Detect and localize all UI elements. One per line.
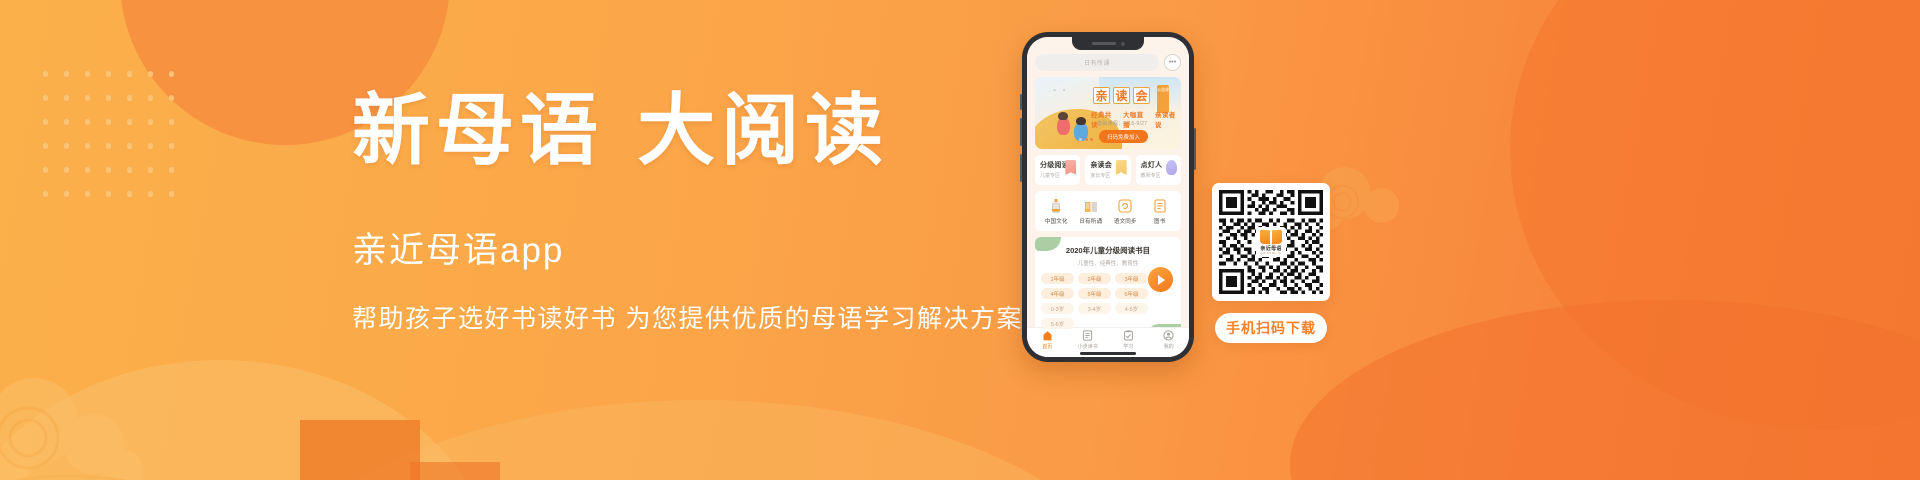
hero-title: 亲 读 会 — [1093, 87, 1150, 104]
quick-link-label: 中国文化 — [1039, 217, 1074, 225]
background-square-left — [300, 420, 420, 480]
quick-link-chinese-culture[interactable]: 中国文化 — [1039, 198, 1074, 225]
hero-title-char: 会 — [1133, 87, 1150, 104]
hero-date-text: 基础课程：9/16-9/27 — [1097, 120, 1147, 127]
person-icon — [1166, 160, 1177, 175]
cloud-motif-icon — [0, 376, 152, 480]
home-indicator — [1080, 352, 1136, 355]
tab-reading[interactable]: 小步读书 — [1068, 330, 1109, 350]
booklist-title: 2020年儿童分级阅读书目 — [1041, 245, 1175, 256]
age-pill[interactable]: 3-4岁 — [1078, 303, 1111, 314]
front-camera-icon — [1121, 42, 1125, 46]
tab-label: 我的 — [1149, 343, 1190, 350]
background-wave-middle — [250, 400, 1150, 480]
phone-mockup: 日有所诵 ••• ∙⌃ ⌃ 亲 读 会 — [1022, 32, 1194, 362]
page-title: 新母语 大阅读 — [352, 92, 1023, 170]
quick-link-label: 语文同步 — [1108, 217, 1143, 225]
quick-link-label: 图书 — [1143, 217, 1178, 225]
grade-pill[interactable]: 6年级 — [1115, 288, 1148, 299]
promo-banner: 新母语 大阅读 亲近母语app 帮助孩子选好书读好书 为您提供优质的母语学习解决… — [0, 0, 1920, 480]
download-button[interactable]: 手机扫码下载 — [1215, 313, 1327, 343]
book-logo-icon — [1260, 230, 1282, 244]
book-list-icon — [1068, 330, 1109, 341]
background-circle-right — [1510, 0, 1920, 430]
hero-subtitle-item: 亲读者说 — [1155, 109, 1181, 129]
earpiece-speaker-icon — [1092, 42, 1116, 44]
app-name: 亲近母语app — [352, 222, 1023, 273]
user-circle-icon — [1149, 330, 1190, 341]
tagline: 帮助孩子选好书读好书 为您提供优质的母语学习解决方案 — [352, 299, 1023, 335]
quick-link-label: 日有所诵 — [1074, 217, 1109, 225]
quick-link-daily-recite[interactable]: 日有所诵 — [1074, 198, 1109, 225]
tab-study[interactable]: 学习 — [1108, 330, 1149, 350]
more-options-icon[interactable]: ••• — [1164, 54, 1181, 71]
search-row: 日有所诵 ••• — [1035, 54, 1181, 71]
background-square-left-small — [410, 462, 500, 480]
qr-code-icon[interactable]: 亲近母语 QIN JIN MU YU — [1212, 183, 1330, 301]
download-block: 亲近母语 QIN JIN MU YU 手机扫码下载 — [1212, 183, 1330, 343]
background-circle-bottom-right — [1290, 300, 1920, 480]
tab-label: 首页 — [1027, 343, 1068, 350]
hero-banner[interactable]: ∙⌃ ⌃ 亲 读 会 公益课 经典共读 大咖直播 亲读者说 基础课程：9/16-… — [1035, 77, 1181, 149]
entry-card-subtitle: 家长专区 — [1090, 172, 1125, 179]
search-input[interactable]: 日有所诵 — [1035, 54, 1159, 71]
brand-logo: 亲近母语 QIN JIN MU YU — [1256, 227, 1286, 257]
entry-card-parent-club[interactable]: 亲读会 家长专区 — [1085, 155, 1130, 185]
dot-grid-pattern — [35, 62, 175, 212]
phone-volume-up-button — [1020, 118, 1022, 146]
age-pill[interactable]: 5-6岁 — [1041, 318, 1074, 329]
grade-pill[interactable]: 1年级 — [1041, 273, 1074, 284]
clipboard-check-icon — [1108, 330, 1149, 341]
hero-cta-button[interactable]: 扫码免费加入 — [1099, 130, 1148, 143]
hero-title-char: 读 — [1113, 87, 1130, 104]
tab-label: 学习 — [1108, 343, 1149, 350]
birds-icon: ∙⌃ ⌃ — [1049, 89, 1068, 95]
refresh-square-icon — [1108, 198, 1143, 214]
brand-name: 亲近母语 — [1260, 245, 1281, 252]
play-video-icon[interactable] — [1148, 267, 1173, 292]
quick-link-books[interactable]: 图书 — [1143, 198, 1178, 225]
more-dots-glyph: ••• — [1169, 59, 1176, 66]
entry-card-teacher[interactable]: 点灯人 教师专区 — [1136, 155, 1181, 185]
carousel-dots[interactable] — [1079, 138, 1093, 141]
grade-pill[interactable]: 5年级 — [1078, 288, 1111, 299]
entry-cards: 分级阅读 儿童专区 亲读会 家长专区 点灯人 教师专区 — [1035, 155, 1181, 185]
marketing-copy: 新母语 大阅读 亲近母语app 帮助孩子选好书读好书 为您提供优质的母语学习解决… — [352, 92, 1023, 335]
quick-links-row: 中国文化 日有所诵 — [1035, 191, 1181, 231]
home-icon — [1027, 330, 1068, 341]
book-icon — [1143, 198, 1178, 214]
hero-title-char: 亲 — [1093, 87, 1110, 104]
book-open-icon — [1074, 198, 1109, 214]
app-home-screen: 日有所诵 ••• ∙⌃ ⌃ 亲 读 会 — [1027, 37, 1189, 357]
phone-power-button — [1194, 128, 1196, 170]
phone-volume-down-button — [1020, 154, 1022, 182]
tab-profile[interactable]: 我的 — [1149, 330, 1190, 350]
vase-icon — [1039, 198, 1074, 214]
child-illustration-red — [1057, 117, 1070, 135]
booklist-panel: 2020年儿童分级阅读书目 儿童性、经典性、教育性 1年级 2年级 3年级 4年… — [1035, 237, 1181, 336]
tab-home[interactable]: 首页 — [1027, 330, 1068, 350]
quick-link-textbook-sync[interactable]: 语文同步 — [1108, 198, 1143, 225]
grade-pill[interactable]: 2年级 — [1078, 273, 1111, 284]
search-placeholder: 日有所诵 — [1084, 58, 1110, 67]
phone-notch — [1072, 37, 1144, 50]
booklist-subtitle: 儿童性、经典性、教育性 — [1041, 259, 1175, 267]
background-wave-left — [0, 360, 500, 480]
age-pill[interactable]: 4-5岁 — [1115, 303, 1148, 314]
grade-pill[interactable]: 3年级 — [1115, 273, 1148, 284]
phone-screen: 日有所诵 ••• ∙⌃ ⌃ 亲 读 会 — [1027, 37, 1189, 357]
tab-label: 小步读书 — [1068, 343, 1109, 350]
age-pill[interactable]: 0-3岁 — [1041, 303, 1074, 314]
grade-pill[interactable]: 4年级 — [1041, 288, 1074, 299]
entry-card-subtitle: 儿童专区 — [1040, 172, 1075, 179]
entry-card-graded-reading[interactable]: 分级阅读 儿童专区 — [1035, 155, 1080, 185]
phone-mute-switch — [1020, 94, 1022, 110]
brand-pinyin: QIN JIN MU YU — [1261, 252, 1282, 255]
